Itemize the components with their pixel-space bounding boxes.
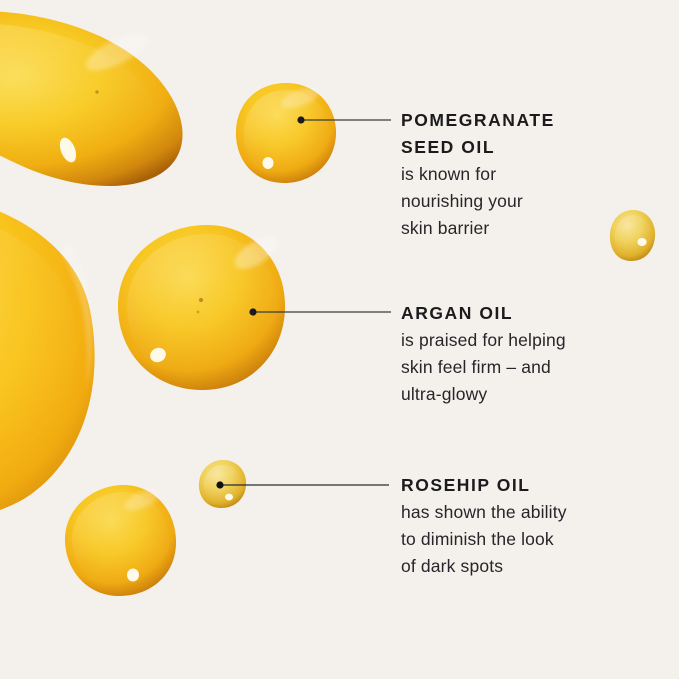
right-edge-highlight-spot bbox=[637, 238, 646, 246]
annotation-pomegranate: POMEGRANATE SEED OIL is known for nouris… bbox=[401, 107, 555, 242]
pomegranate-highlight-spot bbox=[263, 157, 274, 169]
argan-droplet bbox=[118, 225, 285, 390]
leader-dot-rosehip bbox=[216, 481, 223, 488]
annotation-heading-argan: ARGAN OIL bbox=[401, 300, 566, 327]
annotation-heading-pomegranate: POMEGRANATE SEED OIL bbox=[401, 107, 555, 161]
rosehip-highlight-spot bbox=[225, 494, 233, 501]
annotation-body-argan: is praised for helping skin feel firm – … bbox=[401, 327, 566, 408]
annotation-heading-rosehip: ROSEHIP OIL bbox=[401, 472, 567, 499]
annotation-argan: ARGAN OIL is praised for helping skin fe… bbox=[401, 300, 566, 408]
large-blob-left bbox=[0, 189, 95, 519]
bottom-left-highlight-spot bbox=[127, 569, 139, 582]
annotation-body-rosehip: has shown the ability to diminish the lo… bbox=[401, 499, 567, 580]
pomegranate-droplet bbox=[236, 83, 336, 183]
bottom-left-droplet bbox=[65, 485, 176, 596]
leader-dot-pomegranate bbox=[297, 116, 304, 123]
oil-ingredient-infographic: POMEGRANATE SEED OIL is known for nouris… bbox=[0, 0, 679, 679]
right-edge-droplet bbox=[610, 210, 655, 261]
annotation-rosehip: ROSEHIP OIL has shown the ability to dim… bbox=[401, 472, 567, 580]
leader-dot-argan bbox=[249, 308, 256, 315]
teardrop-top-left bbox=[0, 11, 183, 186]
droplets-and-leaders-layer bbox=[0, 0, 679, 679]
annotation-body-pomegranate: is known for nourishing your skin barrie… bbox=[401, 161, 555, 242]
